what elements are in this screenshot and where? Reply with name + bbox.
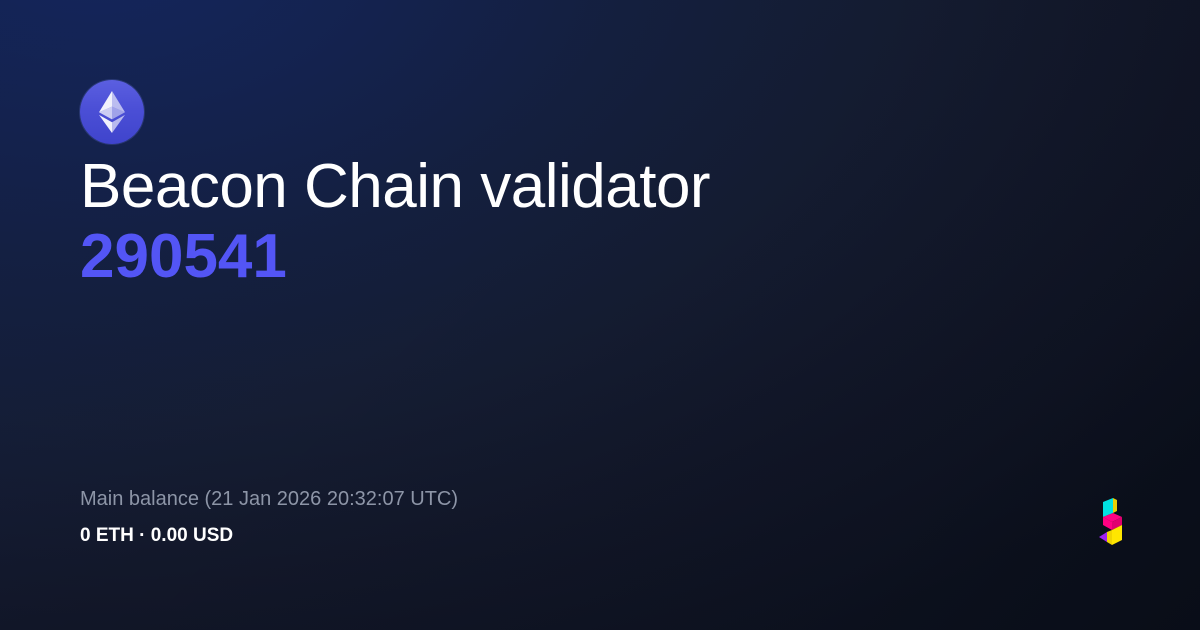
blockscout-logo-icon <box>1094 498 1128 548</box>
validator-index: 290541 <box>80 222 1120 292</box>
og-card: Beacon Chain validator 290541 Main balan… <box>0 0 1200 630</box>
balance-block: Main balance (21 Jan 2026 20:32:07 UTC) … <box>80 486 940 548</box>
ethereum-avatar <box>80 80 144 144</box>
balance-value: 0 ETH · 0.00 USD <box>80 524 940 548</box>
card-content: Beacon Chain validator 290541 Main balan… <box>0 0 1200 630</box>
brand-logo <box>1094 498 1128 548</box>
ethereum-logo-icon <box>99 91 125 133</box>
page-title-text: Beacon Chain validator <box>80 152 710 221</box>
page-title: Beacon Chain validator 290541 <box>80 152 1120 292</box>
balance-label: Main balance (21 Jan 2026 20:32:07 UTC) <box>80 486 940 512</box>
